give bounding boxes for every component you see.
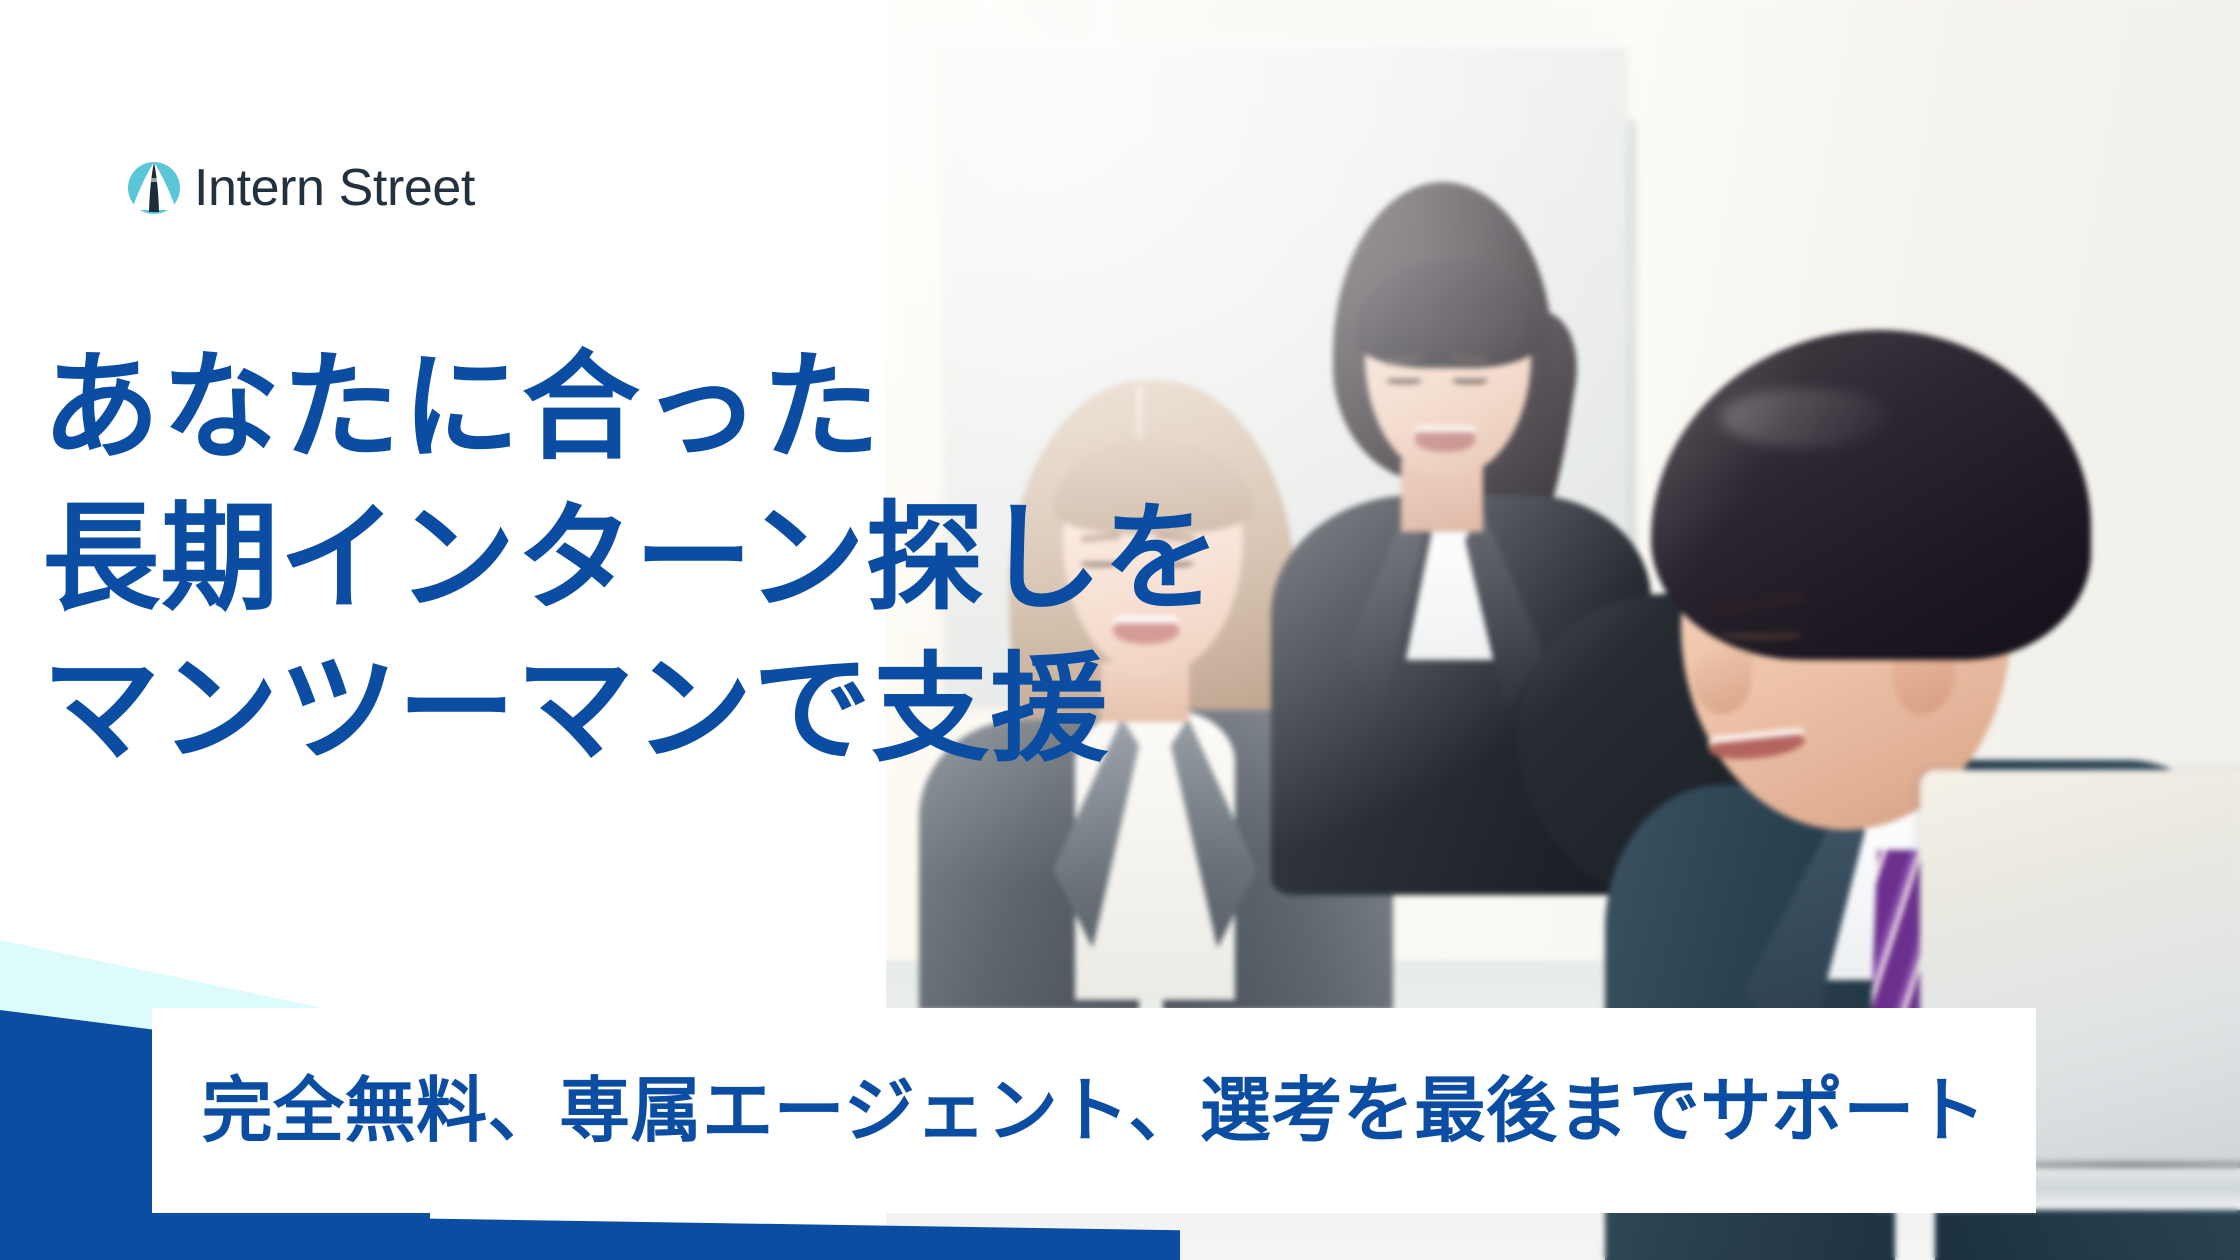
brand-logo[interactable]: Intern Street [126,160,475,216]
eye [1721,630,1801,640]
headline-line-3: マンツーマンで支援 [42,634,1221,785]
headline-line-2: 長期インターン探しを [42,483,1221,634]
eye-left [1387,378,1421,384]
feature-banner-text: 完全無料、専属エージェント、選考を最後までサポート [202,1075,1987,1146]
feature-banner: 完全無料、専属エージェント、選考を最後までサポート [152,1008,2036,1213]
mouth [1415,426,1475,452]
lighthouse-circle-icon [126,160,182,216]
headline-line-1: あなたに合った [42,332,1221,483]
nose [1693,648,1751,714]
page-title: あなたに合った 長期インターン探しを マンツーマンで支援 [42,332,1221,785]
eye-right [1453,378,1487,384]
hero-banner: Intern Street あなたに合った 長期インターン探しを マンツーマンで… [0,0,2240,1260]
brand-wordmark: Intern Street [194,162,475,214]
